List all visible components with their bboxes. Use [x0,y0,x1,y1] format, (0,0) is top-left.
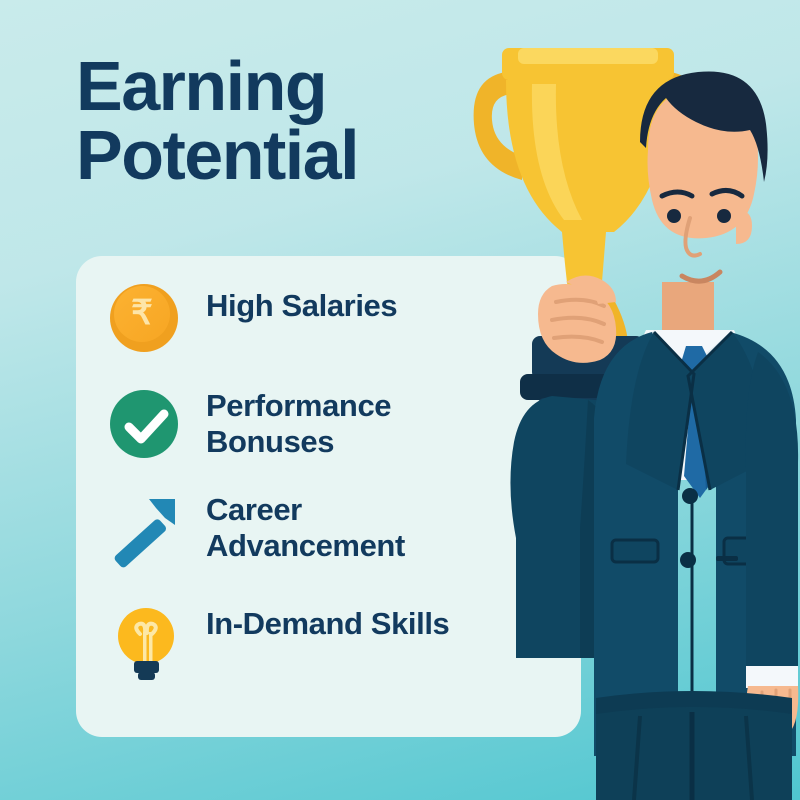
trousers [596,691,792,800]
rupee-coin-icon: ₹ [108,280,180,352]
list-item: Career Advancement [108,490,548,564]
feature-label: High Salaries [206,280,397,324]
feature-label: In-Demand Skills [206,604,449,642]
feature-label: Performance Bonuses [206,386,506,460]
feature-card: ₹ High Salaries Performance Bonuses [76,256,581,737]
head [640,71,768,344]
title-line-1: Earning [76,52,506,121]
up-arrow-icon [108,490,180,562]
list-item: In-Demand Skills [108,604,548,676]
check-circle-icon [108,386,180,458]
list-item: Performance Bonuses [108,386,548,460]
suit-torso [594,330,798,756]
poster-canvas: Earning Potential ₹ High Salaries [0,0,800,800]
page-title: Earning Potential [76,52,506,189]
feature-label: Career Advancement [206,490,506,564]
feature-list: ₹ High Salaries Performance Bonuses [76,256,581,737]
list-item: ₹ High Salaries [108,280,548,352]
rupee-symbol: ₹ [131,296,153,330]
lightbulb-icon [108,604,180,676]
title-line-2: Potential [76,121,506,190]
